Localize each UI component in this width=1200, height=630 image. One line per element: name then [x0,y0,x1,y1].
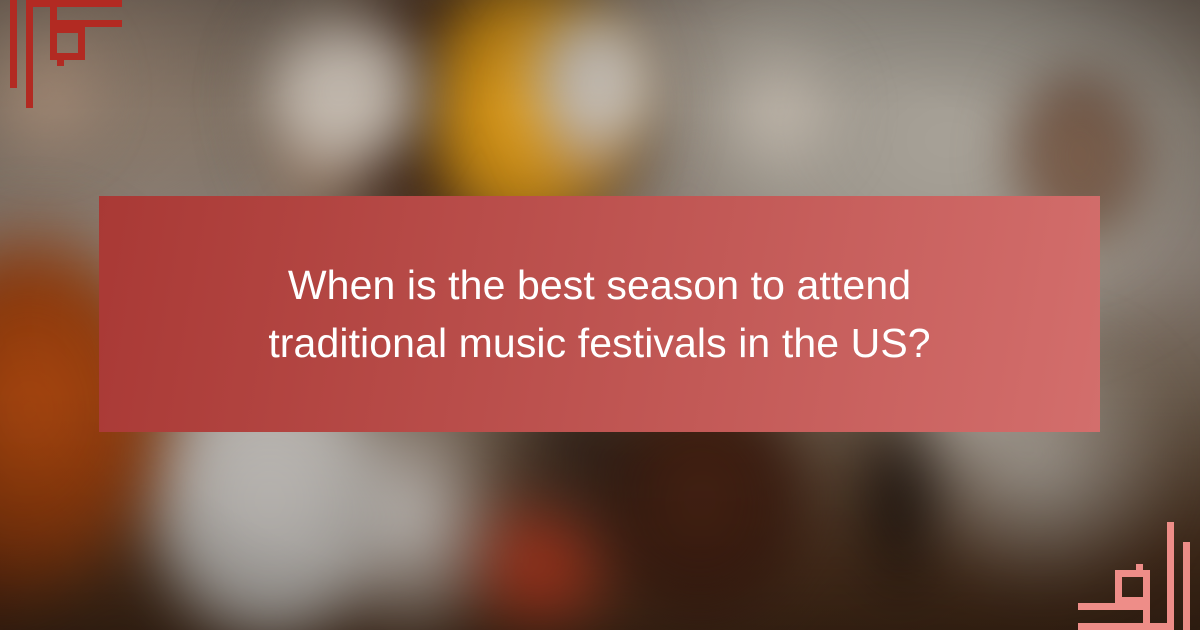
ornament-stroke-inner-vertical [26,0,33,108]
question-card: When is the best season to attend tradit… [0,0,1200,630]
ornament-stroke-hook-horizontal [1078,603,1150,610]
ornament-stroke-top-horizontal [1078,623,1174,630]
ornament-square-outline [1115,570,1150,604]
ornament-stroke-inner-vertical [1167,522,1174,630]
ornament-stroke-square-stub [1136,564,1143,574]
ornament-stroke-outer-vertical [1183,542,1190,630]
corner-ornament-bottom-right [1080,520,1200,630]
corner-ornament-top-left [0,0,120,110]
question-text: When is the best season to attend tradit… [250,256,950,372]
question-banner: When is the best season to attend tradit… [99,196,1100,432]
ornament-stroke-square-stub [57,56,64,66]
ornament-stroke-top-horizontal [26,0,122,7]
ornament-stroke-outer-vertical [10,0,17,88]
ornament-square-outline [50,26,85,60]
